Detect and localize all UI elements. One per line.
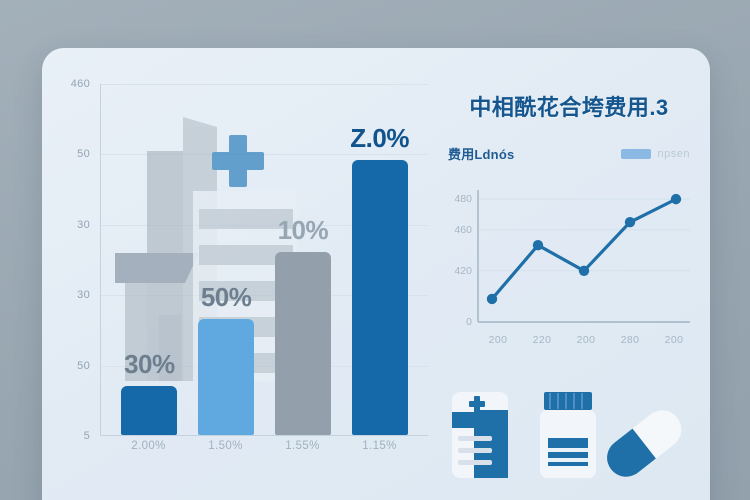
line-chart-x-tick: 280: [610, 334, 650, 346]
bar-rect[interactable]: [275, 252, 331, 435]
line-chart-x-tick: 200: [566, 334, 606, 346]
capsule-pill-icon: [599, 403, 689, 478]
bar-data-label: 30%: [124, 349, 175, 380]
bar-data-label: 10%: [278, 215, 329, 246]
line-chart-x-axis: 200220200280200: [478, 334, 694, 346]
line-data-point[interactable]: [487, 294, 497, 304]
bar-rect[interactable]: [352, 160, 408, 435]
line-data-point[interactable]: [671, 194, 681, 204]
medicine-box-icon: [452, 392, 508, 478]
line-chart-panel: 4804604200 200220200280200: [440, 186, 698, 361]
chart-subtitle: 费用Ldnós: [448, 144, 514, 163]
line-data-point[interactable]: [625, 217, 635, 227]
line-data-point[interactable]: [533, 240, 543, 250]
line-chart-x-tick: 200: [478, 334, 518, 346]
legend-label: npsen: [658, 148, 690, 160]
bar-column[interactable]: 10%: [275, 83, 331, 435]
line-chart-y-tick: 0: [440, 316, 472, 328]
dashboard-card: 460503030505: [42, 48, 710, 500]
bar-rect[interactable]: [198, 319, 254, 435]
right-panel: 中相酰花合垮费用.3 费用Ldnós npsen 4804604200 2002…: [440, 68, 698, 500]
bar-chart-y-tick: 30: [77, 289, 90, 301]
legend-swatch-icon: [621, 149, 651, 159]
screenshot-root: 460503030505: [0, 0, 750, 500]
bar-chart-y-axis: 460503030505: [54, 84, 96, 436]
bar-chart-x-tick: 1.15%: [352, 440, 408, 452]
bar-chart-x-tick: 2.00%: [121, 440, 177, 452]
bar-chart-y-tick: 460: [71, 78, 90, 90]
line-chart-plot-area: [440, 186, 698, 338]
legend-row: 费用Ldnós npsen: [440, 144, 698, 163]
pharma-icon-row: [446, 386, 698, 478]
bar-chart-y-tick: 30: [77, 219, 90, 231]
line-chart-y-tick: 480: [440, 193, 472, 205]
bar-chart-panel: 460503030505: [54, 84, 432, 484]
line-chart-y-tick: 420: [440, 265, 472, 277]
bar-chart-x-tick: 1.55%: [275, 440, 331, 452]
bar-data-label: 50%: [201, 282, 252, 313]
legend-entry[interactable]: npsen: [621, 148, 690, 160]
bar-chart-x-tick: 1.50%: [198, 440, 254, 452]
line-data-point[interactable]: [579, 266, 589, 276]
bar-chart-y-tick: 50: [77, 148, 90, 160]
bar-column[interactable]: 30%: [121, 83, 177, 435]
line-chart-y-tick: 460: [440, 224, 472, 236]
bar-column[interactable]: Z.0%: [352, 83, 408, 435]
pill-bottle-icon: [540, 392, 596, 478]
bar-chart-plot-area: 30%50%10%Z.0%: [100, 84, 428, 436]
bar-chart-x-axis: 2.00%1.50%1.55%1.15%: [100, 440, 428, 452]
line-chart-x-tick: 200: [654, 334, 694, 346]
page-title: 中相酰花合垮费用.3: [440, 90, 698, 122]
bar-series: 30%50%10%Z.0%: [101, 83, 428, 435]
line-series-path: [492, 199, 676, 299]
bar-column[interactable]: 50%: [198, 83, 254, 435]
bar-chart-y-tick: 50: [77, 360, 90, 372]
bar-data-label: Z.0%: [350, 123, 409, 154]
line-chart-x-tick: 220: [522, 334, 562, 346]
bar-rect[interactable]: [121, 386, 177, 435]
bar-chart-y-tick: 5: [84, 430, 90, 442]
